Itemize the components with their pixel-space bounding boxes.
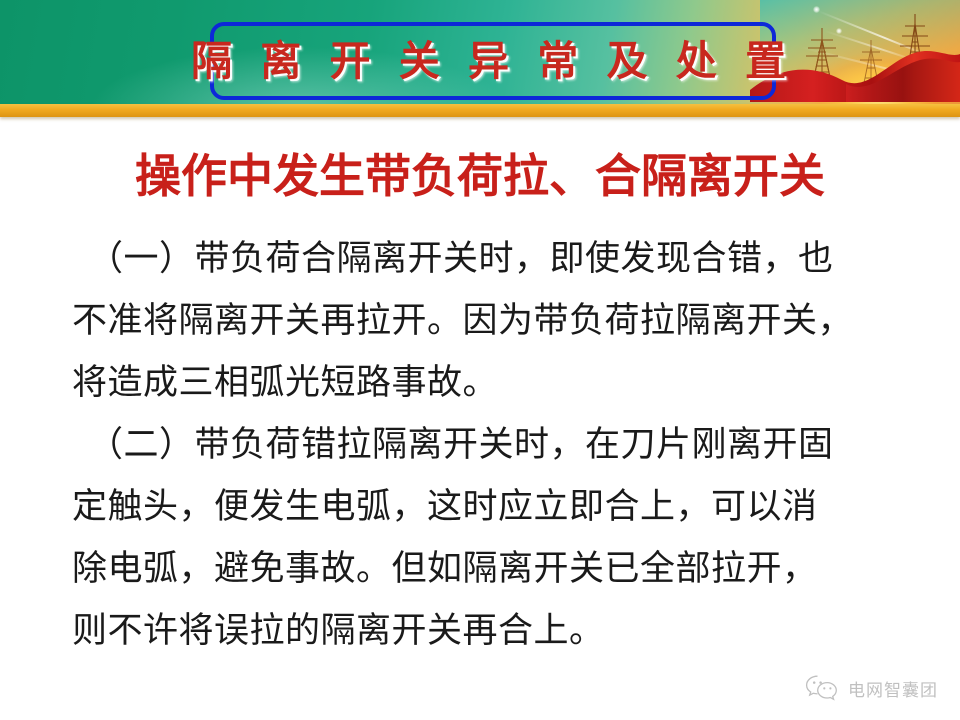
- body-line: 不准将隔离开关再拉开。因为带负荷拉隔离开关，: [72, 290, 902, 352]
- body-line: 将造成三相弧光短路事故。: [72, 352, 902, 414]
- banner-title-box: 隔 离 开 关 异 常 及 处 置: [210, 22, 776, 100]
- body-line: 则不许将误拉的隔离开关再合上。: [72, 600, 902, 662]
- body-line: 除电弧，避免事故。但如隔离开关已全部拉开，: [72, 538, 902, 600]
- page-title: 操作中发生带负荷拉、合隔离开关: [0, 148, 960, 206]
- body-line: 定触头，便发生电弧，这时应立即合上，可以消: [72, 476, 902, 538]
- banner-title: 隔 离 开 关 异 常 及 处 置: [191, 41, 795, 82]
- slide-banner: 隔 离 开 关 异 常 及 处 置: [0, 0, 960, 112]
- watermark: 电网智囊团: [805, 674, 938, 702]
- watermark-label: 电网智囊团: [848, 676, 938, 701]
- body-content: （一）带负荷合隔离开关时，即使发现合错，也 不准将隔离开关再拉开。因为带负荷拉隔…: [72, 228, 902, 662]
- wechat-icon: [805, 674, 839, 702]
- banner-accent-bar: [0, 104, 960, 117]
- body-line: （一）带负荷合隔离开关时，即使发现合错，也: [72, 228, 902, 290]
- slide-canvas: 隔 离 开 关 异 常 及 处 置 操作中发生带负荷拉、合隔离开关 （一）带负荷…: [0, 0, 960, 720]
- body-line: （二）带负荷错拉隔离开关时，在刀片刚离开固: [72, 414, 902, 476]
- light-spark-icon: [813, 6, 820, 13]
